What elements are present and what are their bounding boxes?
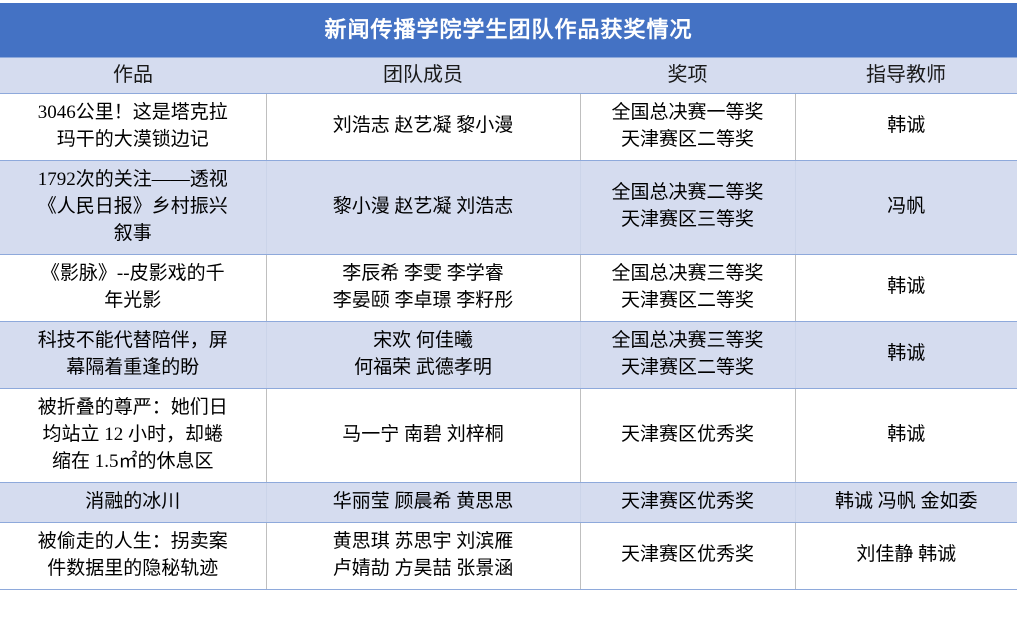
table-title-row: 新闻传播学院学生团队作品获奖情况 xyxy=(0,3,1017,58)
cell-teacher: 韩诚 xyxy=(795,94,1017,161)
cell-line: 刘佳静 韩诚 xyxy=(800,542,1014,569)
awards-table-container: 新闻传播学院学生团队作品获奖情况 作品 团队成员 奖项 指导教师 3046公里！… xyxy=(0,0,1017,638)
table-title: 新闻传播学院学生团队作品获奖情况 xyxy=(0,3,1017,58)
cell-line: 天津赛区优秀奖 xyxy=(585,489,791,516)
cell-work: 消融的冰川 xyxy=(0,482,266,522)
cell-line: 3046公里！这是塔克拉 xyxy=(4,100,262,127)
cell-line: 全国总决赛三等奖 xyxy=(585,328,791,355)
cell-line: 均站立 12 小时，却蜷 xyxy=(4,422,262,449)
cell-line: 李晏颐 李卓璟 李籽彤 xyxy=(271,288,576,315)
cell-line: 幕隔着重逢的盼 xyxy=(4,355,262,382)
cell-award: 天津赛区优秀奖 xyxy=(580,482,795,522)
table-row: 被偷走的人生：拐卖案件数据里的隐秘轨迹黄思琪 苏思宇 刘滨雁卢婧劼 方昊喆 张景… xyxy=(0,522,1017,589)
cell-award: 全国总决赛三等奖天津赛区二等奖 xyxy=(580,321,795,388)
cell-line: 被折叠的尊严：她们日 xyxy=(4,395,262,422)
cell-line: 韩诚 xyxy=(800,274,1014,301)
table-row: 消融的冰川华丽莹 顾晨希 黄思思天津赛区优秀奖韩诚 冯帆 金如委 xyxy=(0,482,1017,522)
cell-award: 天津赛区优秀奖 xyxy=(580,522,795,589)
column-header-work: 作品 xyxy=(0,58,266,94)
cell-line: 黎小漫 赵艺凝 刘浩志 xyxy=(271,194,576,221)
cell-line: 冯帆 xyxy=(800,194,1014,221)
cell-line: 华丽莹 顾晨希 黄思思 xyxy=(271,489,576,516)
cell-members: 马一宁 南碧 刘梓桐 xyxy=(266,388,580,482)
column-header-members: 团队成员 xyxy=(266,58,580,94)
cell-work: 《影脉》--皮影戏的千年光影 xyxy=(0,254,266,321)
cell-line: 何福荣 武德孝明 xyxy=(271,355,576,382)
cell-award: 全国总决赛二等奖天津赛区三等奖 xyxy=(580,160,795,254)
table-row: 被折叠的尊严：她们日均站立 12 小时，却蜷缩在 1.5㎡的休息区马一宁 南碧 … xyxy=(0,388,1017,482)
cell-line: 1792次的关注——透视 xyxy=(4,167,262,194)
cell-work: 科技不能代替陪伴，屏幕隔着重逢的盼 xyxy=(0,321,266,388)
cell-members: 华丽莹 顾晨希 黄思思 xyxy=(266,482,580,522)
cell-line: 消融的冰川 xyxy=(4,489,262,516)
cell-work: 3046公里！这是塔克拉玛干的大漠锁边记 xyxy=(0,94,266,161)
cell-members: 宋欢 何佳曦何福荣 武德孝明 xyxy=(266,321,580,388)
cell-line: 叙事 xyxy=(4,221,262,248)
cell-work: 被偷走的人生：拐卖案件数据里的隐秘轨迹 xyxy=(0,522,266,589)
cell-line: 件数据里的隐秘轨迹 xyxy=(4,556,262,583)
table-row: 科技不能代替陪伴，屏幕隔着重逢的盼宋欢 何佳曦何福荣 武德孝明全国总决赛三等奖天… xyxy=(0,321,1017,388)
cell-line: 年光影 xyxy=(4,288,262,315)
cell-line: 被偷走的人生：拐卖案 xyxy=(4,529,262,556)
cell-teacher: 韩诚 xyxy=(795,388,1017,482)
cell-line: 玛干的大漠锁边记 xyxy=(4,127,262,154)
cell-line: 韩诚 xyxy=(800,422,1014,449)
cell-line: 天津赛区二等奖 xyxy=(585,127,791,154)
table-row: 3046公里！这是塔克拉玛干的大漠锁边记刘浩志 赵艺凝 黎小漫全国总决赛一等奖天… xyxy=(0,94,1017,161)
column-header-award: 奖项 xyxy=(580,58,795,94)
cell-teacher: 韩诚 冯帆 金如委 xyxy=(795,482,1017,522)
cell-line: 《人民日报》乡村振兴 xyxy=(4,194,262,221)
cell-line: 李辰希 李雯 李学睿 xyxy=(271,261,576,288)
cell-line: 天津赛区二等奖 xyxy=(585,288,791,315)
cell-line: 天津赛区二等奖 xyxy=(585,355,791,382)
cell-line: 科技不能代替陪伴，屏 xyxy=(4,328,262,355)
cell-line: 刘浩志 赵艺凝 黎小漫 xyxy=(271,113,576,140)
cell-line: 天津赛区优秀奖 xyxy=(585,422,791,449)
cell-line: 天津赛区优秀奖 xyxy=(585,542,791,569)
cell-award: 全国总决赛一等奖天津赛区二等奖 xyxy=(580,94,795,161)
cell-line: 缩在 1.5㎡的休息区 xyxy=(4,449,262,476)
cell-line: 韩诚 xyxy=(800,341,1014,368)
cell-line: 全国总决赛二等奖 xyxy=(585,180,791,207)
column-header-row: 作品 团队成员 奖项 指导教师 xyxy=(0,58,1017,94)
cell-teacher: 韩诚 xyxy=(795,321,1017,388)
cell-teacher: 刘佳静 韩诚 xyxy=(795,522,1017,589)
cell-members: 李辰希 李雯 李学睿李晏颐 李卓璟 李籽彤 xyxy=(266,254,580,321)
cell-line: 全国总决赛三等奖 xyxy=(585,261,791,288)
table-body: 3046公里！这是塔克拉玛干的大漠锁边记刘浩志 赵艺凝 黎小漫全国总决赛一等奖天… xyxy=(0,94,1017,590)
cell-line: 黄思琪 苏思宇 刘滨雁 xyxy=(271,529,576,556)
cell-members: 黎小漫 赵艺凝 刘浩志 xyxy=(266,160,580,254)
cell-line: 《影脉》--皮影戏的千 xyxy=(4,261,262,288)
awards-table: 新闻传播学院学生团队作品获奖情况 作品 团队成员 奖项 指导教师 3046公里！… xyxy=(0,3,1017,590)
cell-award: 天津赛区优秀奖 xyxy=(580,388,795,482)
cell-teacher: 韩诚 xyxy=(795,254,1017,321)
cell-members: 黄思琪 苏思宇 刘滨雁卢婧劼 方昊喆 张景涵 xyxy=(266,522,580,589)
cell-line: 韩诚 冯帆 金如委 xyxy=(800,489,1014,516)
cell-teacher: 冯帆 xyxy=(795,160,1017,254)
cell-line: 全国总决赛一等奖 xyxy=(585,100,791,127)
table-row: 1792次的关注——透视《人民日报》乡村振兴叙事黎小漫 赵艺凝 刘浩志全国总决赛… xyxy=(0,160,1017,254)
column-header-teacher: 指导教师 xyxy=(795,58,1017,94)
cell-line: 卢婧劼 方昊喆 张景涵 xyxy=(271,556,576,583)
table-row: 《影脉》--皮影戏的千年光影李辰希 李雯 李学睿李晏颐 李卓璟 李籽彤全国总决赛… xyxy=(0,254,1017,321)
cell-work: 1792次的关注——透视《人民日报》乡村振兴叙事 xyxy=(0,160,266,254)
cell-line: 马一宁 南碧 刘梓桐 xyxy=(271,422,576,449)
cell-line: 宋欢 何佳曦 xyxy=(271,328,576,355)
cell-line: 天津赛区三等奖 xyxy=(585,207,791,234)
table-head: 新闻传播学院学生团队作品获奖情况 作品 团队成员 奖项 指导教师 xyxy=(0,3,1017,94)
cell-work: 被折叠的尊严：她们日均站立 12 小时，却蜷缩在 1.5㎡的休息区 xyxy=(0,388,266,482)
cell-members: 刘浩志 赵艺凝 黎小漫 xyxy=(266,94,580,161)
cell-line: 韩诚 xyxy=(800,113,1014,140)
cell-award: 全国总决赛三等奖天津赛区二等奖 xyxy=(580,254,795,321)
